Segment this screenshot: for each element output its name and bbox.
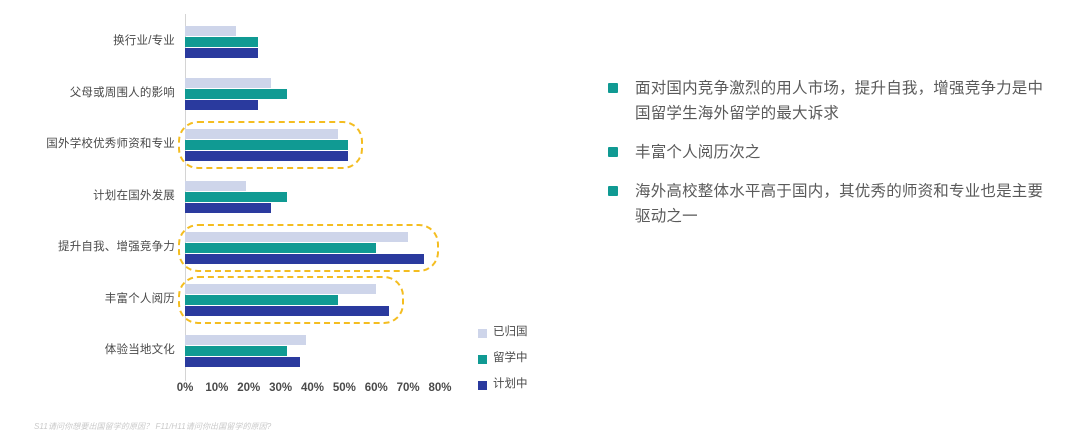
x-axis-tick: 80% [424,383,456,395]
bar-留学中 [185,346,287,356]
bar-计划中 [185,100,258,110]
bar-计划中 [185,151,348,161]
bullet-square-icon [608,83,618,93]
x-axis-tick: 70% [392,383,424,395]
bar-计划中 [185,357,300,367]
legend-item[interactable]: 计划中 [478,372,558,398]
legend-label: 已归国 [493,327,528,339]
x-axis-tick: 0% [169,383,201,395]
insights-list: 面对国内竞争激烈的用人市场，提升自我，增强竞争力是中国留学生海外留学的最大诉求丰… [608,76,1048,244]
bar-留学中 [185,295,338,305]
bullet-square-icon [608,186,618,196]
legend-swatch-icon [478,381,487,390]
bar-计划中 [185,203,271,213]
x-axis-tick: 10% [201,383,233,395]
legend-item[interactable]: 留学中 [478,346,558,372]
bar-计划中 [185,254,424,264]
insight-text: 丰富个人阅历次之 [635,140,761,165]
x-axis-tick: 40% [297,383,329,395]
legend-swatch-icon [478,355,487,364]
category-label: 国外学校优秀师资和专业 [46,139,175,151]
category-label: 提升自我、增强竞争力 [58,242,175,254]
bar-已归国 [185,335,306,345]
category-label: 换行业/专业 [113,36,175,48]
x-axis-tick: 50% [328,383,360,395]
legend-label: 计划中 [493,379,528,391]
bar-留学中 [185,89,287,99]
slide-root: 换行业/专业父母或周围人的影响国外学校优秀师资和专业计划在国外发展提升自我、增强… [0,0,1080,443]
bar-chart-plot: 换行业/专业父母或周围人的影响国外学校优秀师资和专业计划在国外发展提升自我、增强… [0,0,560,410]
footnote: S11请问你想要出国留学的原因？ F11/H11请问你出国留学的原因? [34,421,271,432]
bar-已归国 [185,129,338,139]
chart-panel: 换行业/专业父母或周围人的影响国外学校优秀师资和专业计划在国外发展提升自我、增强… [0,0,560,410]
bar-留学中 [185,140,348,150]
insight-item: 面对国内竞争激烈的用人市场，提升自我，增强竞争力是中国留学生海外留学的最大诉求 [608,76,1048,126]
bar-已归国 [185,232,408,242]
category-label: 父母或周围人的影响 [70,88,175,100]
insight-item: 丰富个人阅历次之 [608,140,1048,165]
chart-legend: 已归国留学中计划中 [478,320,558,398]
bar-计划中 [185,48,258,58]
x-axis-tick: 20% [233,383,265,395]
bar-留学中 [185,37,258,47]
legend-swatch-icon [478,329,487,338]
bar-计划中 [185,306,389,316]
bar-已归国 [185,26,236,36]
insight-item: 海外高校整体水平高于国内，其优秀的师资和专业也是主要驱动之一 [608,179,1048,229]
bar-已归国 [185,284,376,294]
insight-text: 海外高校整体水平高于国内，其优秀的师资和专业也是主要驱动之一 [635,179,1048,229]
category-label: 体验当地文化 [105,345,175,357]
x-axis-tick: 60% [360,383,392,395]
bullet-square-icon [608,147,618,157]
category-label: 计划在国外发展 [93,191,175,203]
bar-留学中 [185,192,287,202]
insight-text: 面对国内竞争激烈的用人市场，提升自我，增强竞争力是中国留学生海外留学的最大诉求 [635,76,1048,126]
legend-item[interactable]: 已归国 [478,320,558,346]
x-axis-tick: 30% [265,383,297,395]
bar-已归国 [185,181,246,191]
legend-label: 留学中 [493,353,528,365]
bar-留学中 [185,243,376,253]
bar-已归国 [185,78,271,88]
category-label: 丰富个人阅历 [105,294,175,306]
